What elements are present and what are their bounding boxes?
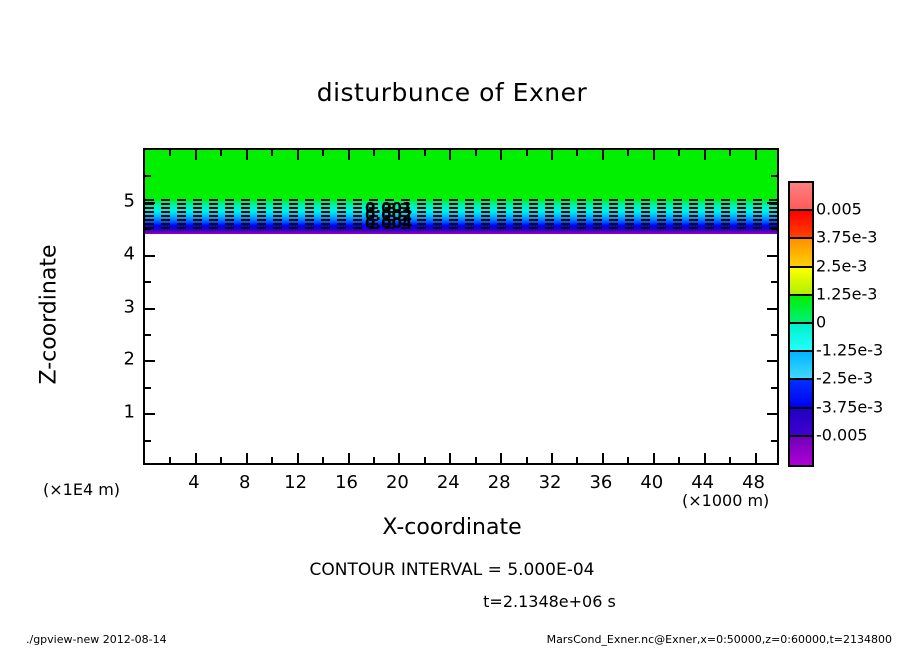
x-axis-tick-label: 20 (386, 472, 409, 493)
x-axis-tick-label: 12 (284, 472, 307, 493)
colorbar-tick-label: -0.005 (816, 425, 868, 444)
colorbar-band (790, 324, 812, 352)
colorbar-tick-label: 0.005 (816, 200, 862, 219)
x-axis-tick-label: 32 (539, 472, 562, 493)
x-axis-tick-label: 40 (640, 472, 663, 493)
x-axis-tick-labels: 4812162024283236404448 (0, 0, 904, 654)
x-axis-tick-label: 16 (335, 472, 358, 493)
x-axis-title: X-coordinate (0, 515, 904, 540)
colorbar-band (790, 268, 812, 296)
y-axis-tick-label: 1 (105, 402, 135, 423)
colorbar-band (790, 380, 812, 408)
x-axis-tick-label: 8 (239, 472, 250, 493)
colorbar-tick-labels: 0.0053.75e-32.5e-31.25e-30-1.25e-3-2.5e-… (816, 0, 904, 654)
time-annotation: t=2.1348e+06 s (0, 592, 904, 611)
x-axis-tick-label: 24 (437, 472, 460, 493)
x-axis-tick-label: 48 (742, 472, 765, 493)
colorbar-tick-label: 0 (816, 313, 826, 332)
x-axis-tick-label: 44 (691, 472, 714, 493)
colorbar[interactable] (788, 181, 814, 467)
y-axis-tick-label: 5 (105, 190, 135, 211)
colorbar-band (790, 409, 812, 437)
colorbar-tick-label: 2.5e-3 (816, 256, 867, 275)
footer-left-text: ./gpview-new 2012-08-14 (26, 633, 167, 646)
y-axis-title: Z-coordinate (37, 235, 62, 395)
x-axis-tick-label: 36 (589, 472, 612, 493)
colorbar-tick-label: 1.25e-3 (816, 284, 877, 303)
colorbar-band (790, 211, 812, 239)
colorbar-tick-label: -2.5e-3 (816, 369, 873, 388)
contour-interval-annotation: CONTOUR INTERVAL = 5.000E-04 (0, 560, 904, 580)
x-axis-tick-label: 4 (188, 472, 199, 493)
colorbar-band (790, 352, 812, 380)
footer-right-text: MarsCond_Exner.nc@Exner,x=0:50000,z=0:60… (547, 633, 892, 646)
colorbar-band (790, 296, 812, 324)
x-axis-unit-left: (×1E4 m) (43, 480, 120, 499)
colorbar-band (790, 437, 812, 465)
colorbar-band (790, 239, 812, 267)
x-axis-tick-label: 28 (488, 472, 511, 493)
colorbar-tick-label: -1.25e-3 (816, 341, 883, 360)
y-axis-tick-label: 4 (105, 243, 135, 264)
colorbar-tick-label: 3.75e-3 (816, 228, 877, 247)
y-axis-tick-label: 2 (105, 349, 135, 370)
y-axis-tick-label: 3 (105, 296, 135, 317)
colorbar-band (790, 183, 812, 211)
x-axis-unit-right: (×1000 m) (682, 491, 769, 510)
colorbar-tick-label: -3.75e-3 (816, 397, 883, 416)
y-axis-tick-labels: 12345 (103, 0, 135, 654)
